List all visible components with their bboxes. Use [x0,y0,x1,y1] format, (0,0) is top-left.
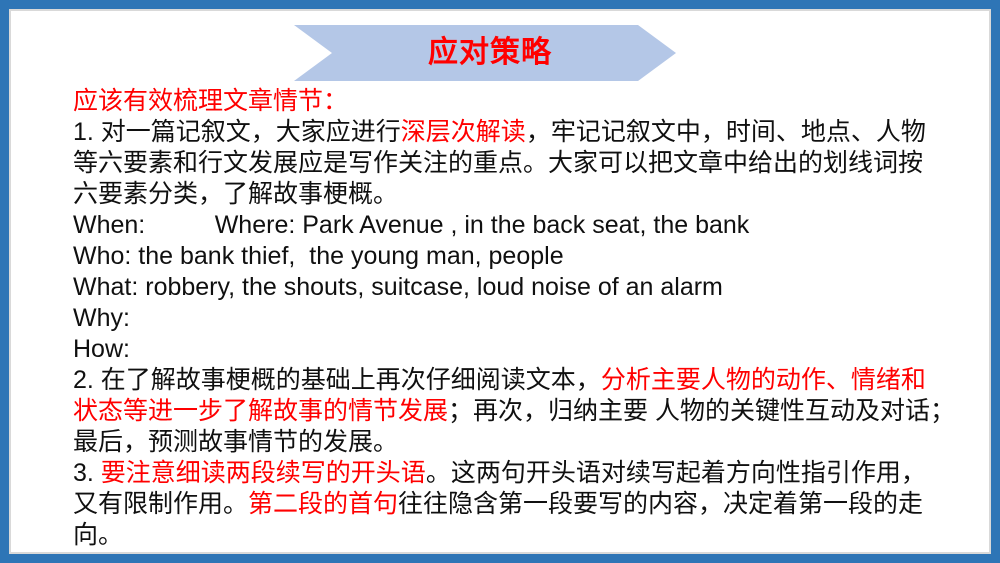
body-line: What: robbery, the shouts, suitcase, lou… [73,272,973,303]
text-run: 向。 [73,521,123,549]
text-run: 1. 对一篇记叙文，大家应进行 [73,118,401,146]
title-banner-chevron: 应对策略 [294,25,676,81]
text-run: 最后，预测故事情节的发展。 [73,428,398,456]
text-run: 往往隐含第一段要写的内容，决定着第一段的走 [398,490,923,518]
body-line: How: [73,334,973,365]
text-run: 。这两句开头语对续写起着方向性指引作用， [426,459,926,487]
text-run: ，牢记记叙文中，时间、地点、人物 [526,118,926,146]
slide-root: 应对策略 应该有效梳理文章情节：1. 对一篇记叙文，大家应进行深层次解读，牢记记… [0,0,1000,563]
text-run: When: Where: Park Avenue , in the back s… [73,211,749,239]
body-line: 状态等进一步了解故事的情节发展；再次，归纳主要 人物的关键性互动及对话； [73,396,973,427]
text-run: 2. 在了解故事梗概的基础上再次仔细阅读文本， [73,366,601,394]
body-line: 2. 在了解故事梗概的基础上再次仔细阅读文本，分析主要人物的动作、情绪和 [73,365,973,396]
body-line: 向。 [73,520,973,551]
body-line: 应该有效梳理文章情节： [73,86,973,117]
text-run: Who: the bank thief, the young man, peop… [73,242,564,270]
body-line: Why: [73,303,973,334]
text-run: Why: [73,304,130,332]
text-run: 等六要素和行文发展应是写作关注的重点。大家可以把文章中给出的划线词按 [73,149,923,177]
body-text-block: 应该有效梳理文章情节：1. 对一篇记叙文，大家应进行深层次解读，牢记记叙文中，时… [73,86,973,551]
body-line: 又有限制作用。第二段的首句往往隐含第一段要写的内容，决定着第一段的走 [73,489,973,520]
text-run: 深层次解读 [401,118,526,146]
text-run: 应该有效梳理文章情节： [73,87,348,115]
page-title: 应对策略 [418,38,552,68]
text-run: ；再次，归纳主要 人物的关键性互动及对话； [448,397,955,425]
body-line: Who: the bank thief, the young man, peop… [73,241,973,272]
text-run: What: robbery, the shouts, suitcase, lou… [73,273,723,301]
text-run: 状态等进一步了解故事的情节发展 [73,397,448,425]
text-run: 第二段的首句 [248,490,398,518]
body-line: When: Where: Park Avenue , in the back s… [73,210,973,241]
body-line: 3. 要注意细读两段续写的开头语。这两句开头语对续写起着方向性指引作用， [73,458,973,489]
text-run: 六要素分类，了解故事梗概。 [73,180,398,208]
body-line: 等六要素和行文发展应是写作关注的重点。大家可以把文章中给出的划线词按 [73,148,973,179]
text-run: How: [73,335,130,363]
body-line: 1. 对一篇记叙文，大家应进行深层次解读，牢记记叙文中，时间、地点、人物 [73,117,973,148]
body-line: 六要素分类，了解故事梗概。 [73,179,973,210]
body-line: 最后，预测故事情节的发展。 [73,427,973,458]
text-run: 要注意细读两段续写的开头语 [101,459,426,487]
text-run: 又有限制作用。 [73,490,248,518]
text-run: 3. [73,459,101,487]
slide-canvas: 应对策略 应该有效梳理文章情节：1. 对一篇记叙文，大家应进行深层次解读，牢记记… [11,11,989,552]
text-run: 分析主要人物的动作、情绪和 [601,366,926,394]
